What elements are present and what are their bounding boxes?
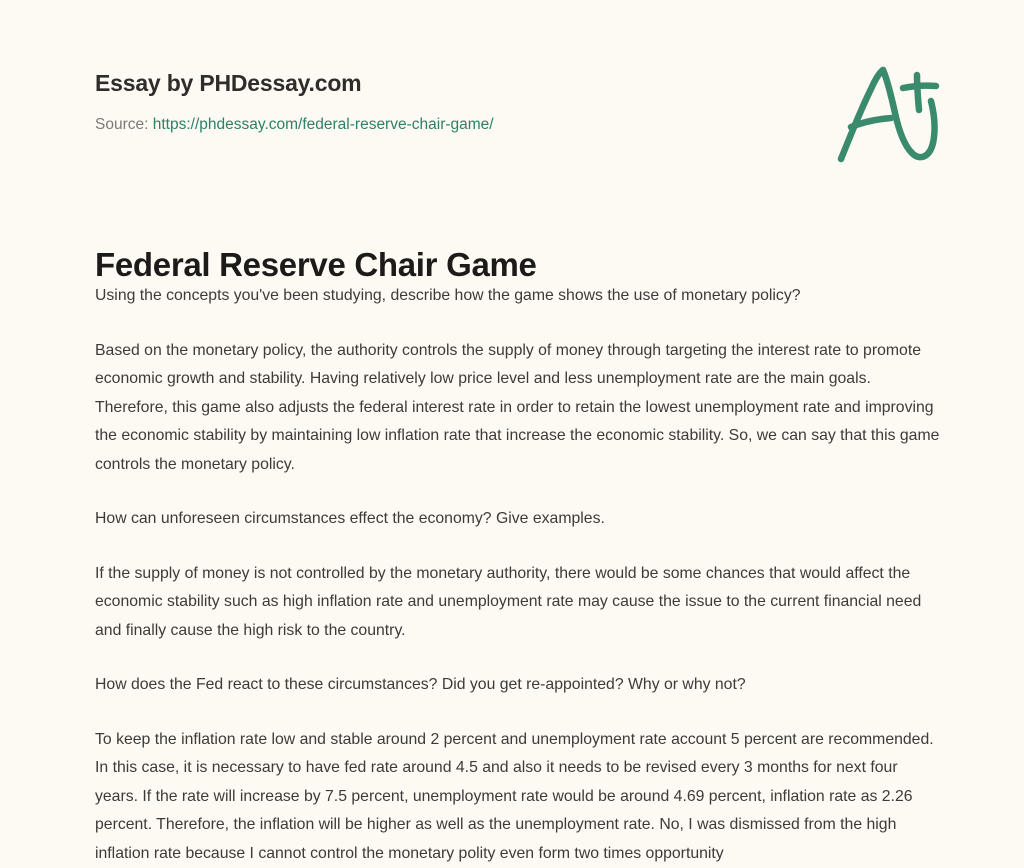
page-title: Federal Reserve Chair Game [95,244,537,285]
source-url-link[interactable]: https://phdessay.com/federal-reserve-cha… [153,116,494,133]
essay-page: Essay by PHDessay.com Source: https://ph… [0,0,1024,788]
paragraph: How can unforeseen circumstances effect … [95,505,940,534]
paragraph: Using the concepts you've been studying,… [95,282,940,311]
paragraph: Based on the monetary policy, the author… [95,337,940,480]
paragraph: To keep the inflation rate low and stabl… [95,726,940,868]
essay-body: Using the concepts you've been studying,… [95,282,940,868]
paragraph: If the supply of money is not controlled… [95,560,940,646]
page-header: Essay by PHDessay.com Source: https://ph… [95,70,955,135]
source-label: Source: [95,116,148,133]
brand-byline: Essay by PHDessay.com [95,70,955,98]
paragraph: How does the Fed react to these circumst… [95,671,940,700]
a-plus-logo-icon[interactable] [829,55,949,175]
source-line: Source: https://phdessay.com/federal-res… [95,115,955,135]
